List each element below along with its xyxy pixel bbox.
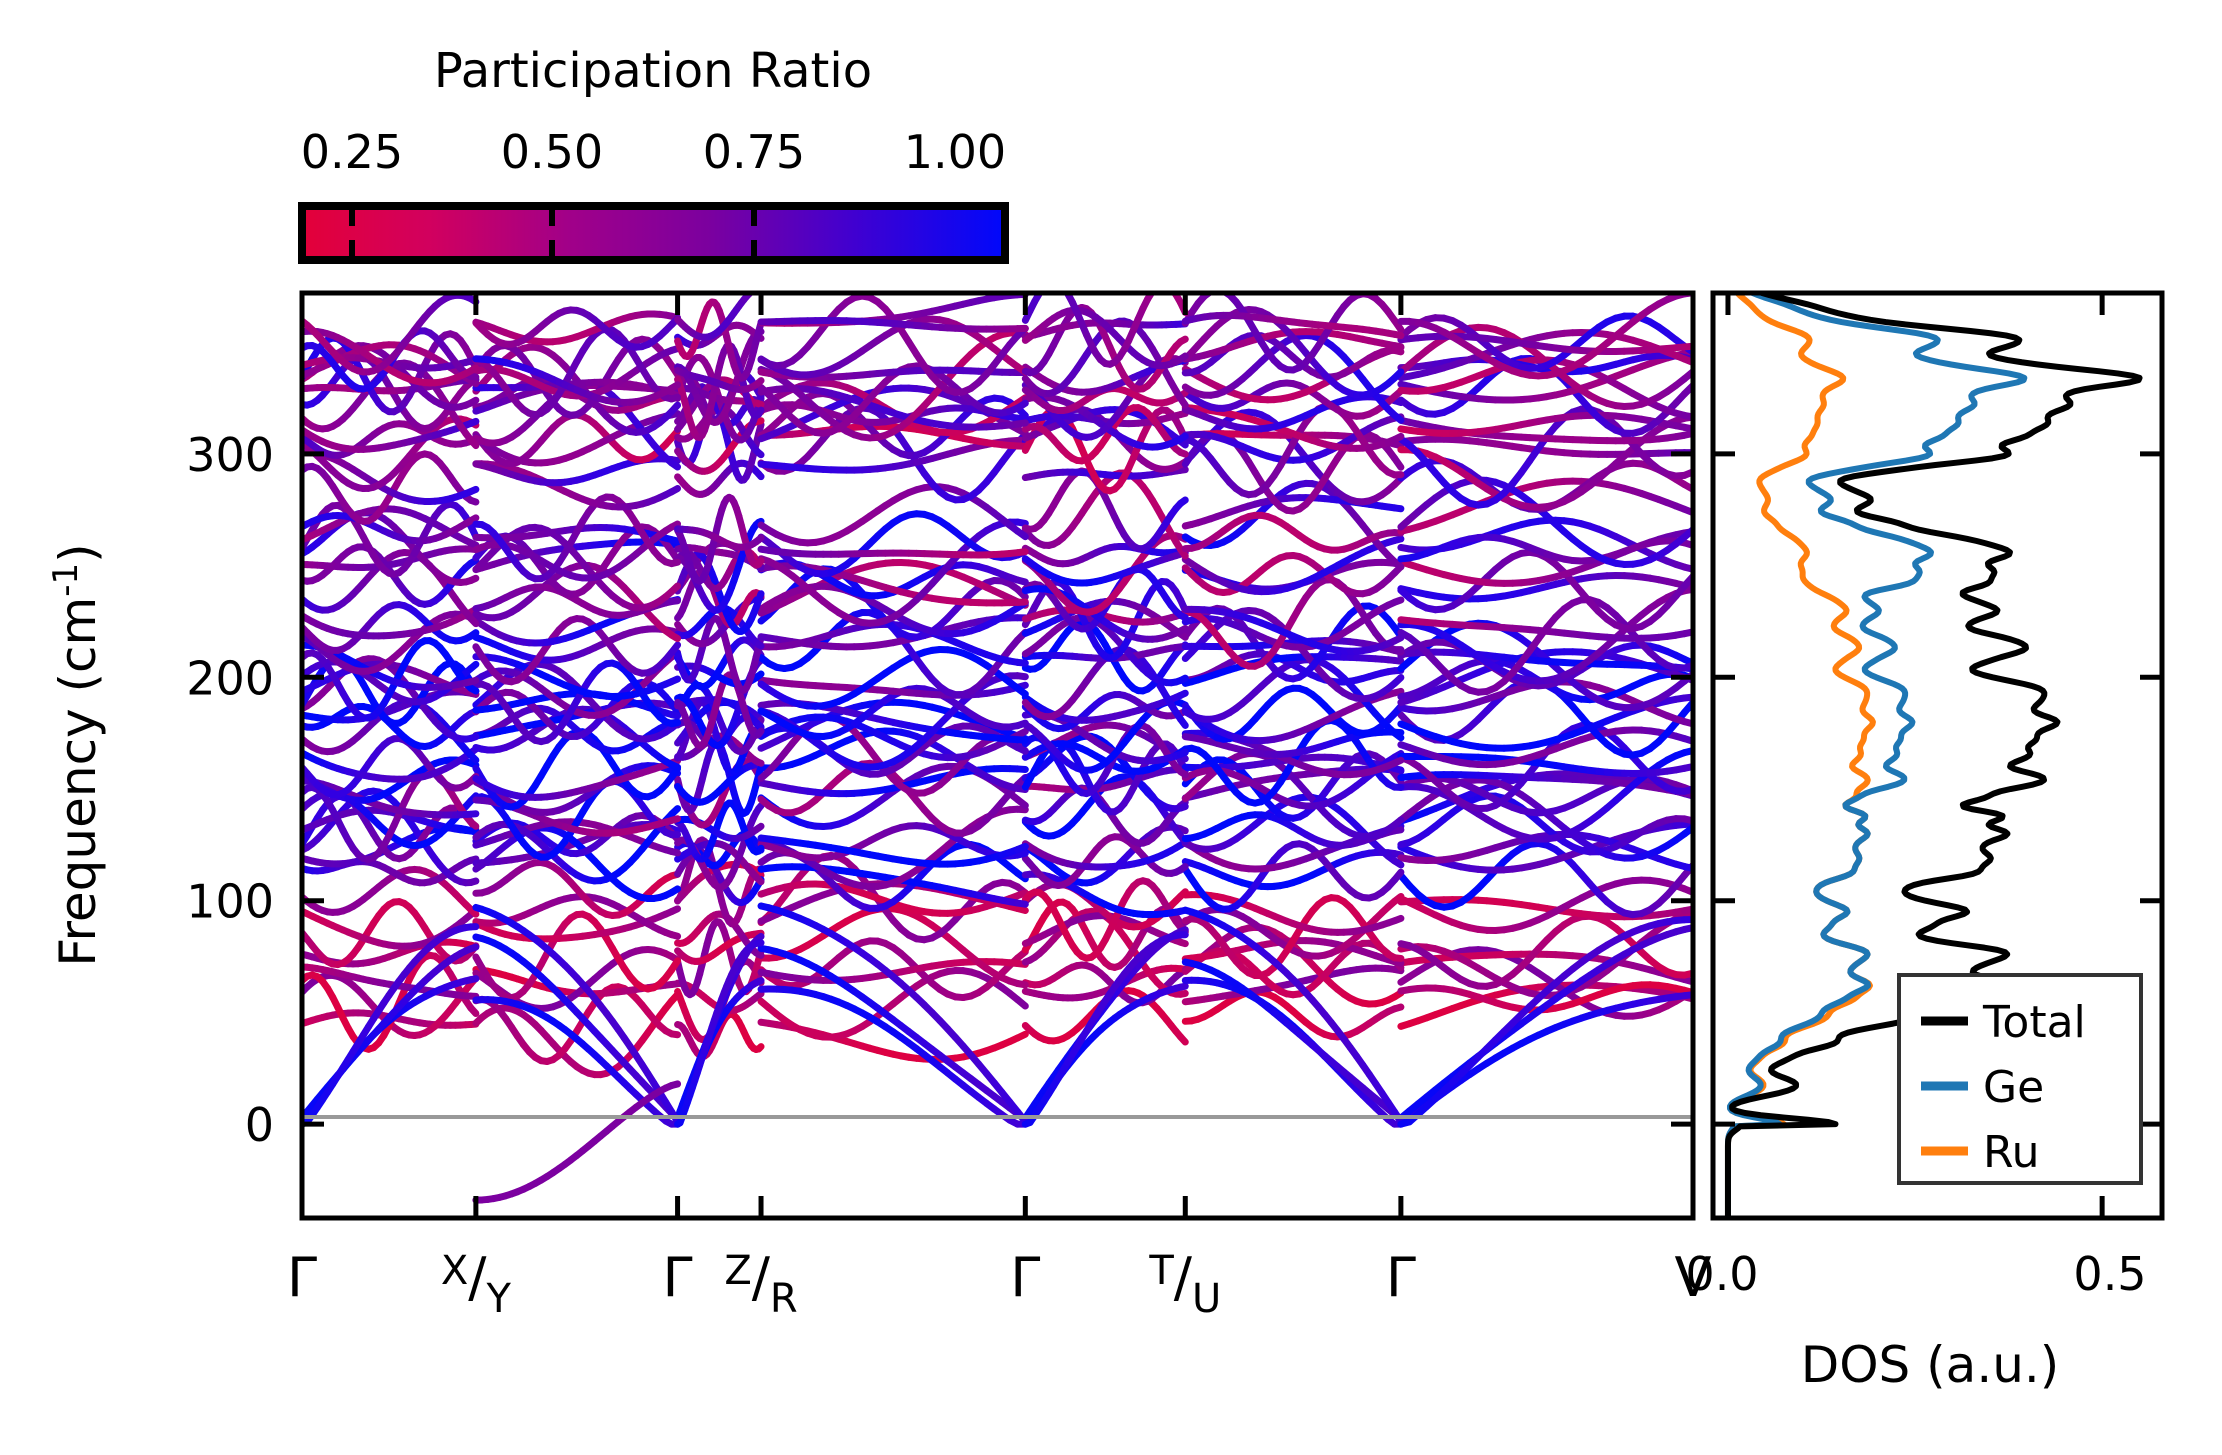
hs-point-label: Z/R: [724, 1246, 797, 1322]
hs-point-label: X/Y: [441, 1246, 512, 1322]
band-panel: 0100200300 ΓX/YΓZ/RΓT/UΓV Frequency (cm-…: [46, 281, 1712, 1322]
colorbar-title: Participation Ratio: [434, 43, 872, 99]
hs-sub: R: [770, 1276, 798, 1322]
hs-point-label: T/U: [1148, 1246, 1221, 1322]
colorbar-gradient: [302, 206, 1005, 260]
colorbar-tick-label-1: 0.50: [501, 125, 603, 179]
hs-sup: X: [441, 1248, 468, 1294]
colorbar-tick-label-2: 0.75: [703, 125, 805, 179]
svg-text:Frequency (cm-1): Frequency (cm-1): [46, 543, 107, 966]
dos-x-axis-label: DOS (a.u.): [1801, 1336, 2060, 1394]
band-xtick-label-1: X/Y: [441, 1246, 512, 1322]
hs-sup: Z: [724, 1248, 751, 1294]
band-xtick-label-0: Γ: [287, 1246, 317, 1309]
colorbar-tick-label-3: 1.00: [904, 125, 1006, 179]
band-xtick-label-6: Γ: [1386, 1246, 1416, 1309]
dos-legend[interactable]: Total Ge Ru: [1899, 975, 2141, 1183]
hs-sub: U: [1192, 1276, 1221, 1322]
hs-slash: /: [752, 1246, 771, 1309]
band-y-axis-label: Frequency (cm-1): [46, 543, 107, 966]
hs-point-label: Γ: [1010, 1246, 1040, 1309]
band-xtick-label-5: T/U: [1148, 1246, 1221, 1322]
hs-sup: T: [1148, 1248, 1174, 1294]
band-ytick-label-2: 200: [186, 651, 274, 705]
figure-canvas: Participation Ratio 0.25 0.50 0.75 1.00 …: [0, 0, 2222, 1455]
hs-point-label: Γ: [1386, 1246, 1416, 1309]
ylabel-main: Frequency (cm: [49, 597, 107, 967]
colorbar-group: Participation Ratio 0.25 0.50 0.75 1.00: [301, 43, 1006, 260]
band-ytick-label-3: 300: [186, 428, 274, 482]
hs-sub: Y: [485, 1276, 511, 1322]
band-curves-group: [302, 281, 1693, 1200]
colorbar-tick-label-0: 0.25: [301, 125, 403, 179]
dos-panel: 0.0 0.5 DOS (a.u.) Total Ge Ru: [1685, 293, 2162, 1394]
band-xtick-label-4: Γ: [1010, 1246, 1040, 1309]
hs-point-label: Γ: [663, 1246, 693, 1309]
band-y-tick-labels: 0100200300: [186, 428, 274, 1152]
legend-label-ge: Ge: [1983, 1062, 2044, 1113]
band-ytick-label-0: 0: [245, 1098, 274, 1152]
band-ytick-label-1: 100: [186, 875, 274, 929]
legend-label-ru: Ru: [1983, 1127, 2039, 1178]
dos-curve-ru: [1728, 293, 1873, 1218]
band-xtick-label-2: Γ: [663, 1246, 693, 1309]
ylabel-tail: ): [49, 543, 107, 563]
band-x-tick-labels: ΓX/YΓZ/RΓT/UΓV: [287, 1246, 1712, 1322]
legend-label-total: Total: [1982, 997, 2086, 1048]
dos-xtick-label-0: 0.0: [1685, 1247, 1758, 1301]
figure-svg: Participation Ratio 0.25 0.50 0.75 1.00 …: [0, 0, 2222, 1455]
ylabel-superscript: -1: [46, 563, 86, 597]
hs-point-label: Γ: [287, 1246, 317, 1309]
hs-slash: /: [1174, 1246, 1193, 1309]
hs-slash: /: [468, 1246, 487, 1309]
dos-xtick-label-1: 0.5: [2073, 1247, 2146, 1301]
band-xtick-label-3: Z/R: [724, 1246, 797, 1322]
